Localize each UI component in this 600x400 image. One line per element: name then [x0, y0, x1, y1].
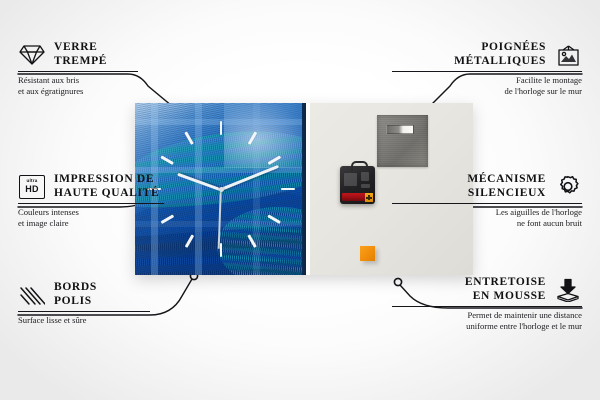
gear-icon — [554, 174, 582, 200]
hands-center-cap — [219, 187, 224, 192]
feature-title: VERRE TREMPÉ — [54, 41, 107, 68]
feature-impression-haute-qualite[interactable]: ultra HD IMPRESSION DE HAUTE QUALITÉ Cou… — [18, 173, 208, 228]
wall-hanger-icon — [554, 42, 582, 68]
feature-title: POIGNÉES MÉTALLIQUES — [454, 41, 546, 68]
foam-spacer — [360, 246, 375, 261]
feature-divider — [392, 71, 582, 72]
feature-title: BORDS POLIS — [54, 281, 97, 308]
ultra-hd-icon-main-label: HD — [25, 185, 38, 194]
mechanism-detail-3 — [361, 184, 370, 188]
feature-description: Couleurs intenses et image claire — [18, 207, 208, 228]
diamond-icon — [18, 42, 46, 68]
polished-edges-icon — [18, 282, 46, 308]
feature-poignees-metalliques[interactable]: POIGNÉES MÉTALLIQUES Facilite le montage… — [392, 41, 582, 96]
feature-verre-trempe[interactable]: VERRE TREMPÉ Résistant aux bris et aux é… — [18, 41, 208, 96]
feature-bords-polis[interactable]: BORDS POLIS Surface lisse et sûre — [18, 281, 208, 326]
artwork-crossline-v3 — [253, 103, 260, 275]
feature-description: Facilite le montage de l'horloge sur le … — [392, 75, 582, 96]
mechanism-detail-1 — [344, 173, 357, 186]
feature-title: ENTRETOISE EN MOUSSE — [465, 276, 546, 303]
feature-divider — [18, 311, 150, 312]
clock-mechanism — [340, 166, 375, 204]
mechanism-hook — [351, 161, 368, 171]
feature-divider — [18, 71, 138, 72]
clock-battery — [342, 193, 372, 201]
hanger-slot — [386, 125, 414, 134]
battery-plus-terminal — [365, 193, 373, 202]
feature-divider — [392, 203, 582, 204]
feature-title: MÉCANISME SILENCIEUX — [467, 173, 546, 200]
feature-description: Les aiguilles de l'horloge ne font aucun… — [392, 207, 582, 228]
feature-entretoise-en-mousse[interactable]: ENTRETOISE EN MOUSSE Permet de maintenir… — [392, 276, 582, 331]
feature-title: IMPRESSION DE HAUTE QUALITÉ — [54, 173, 159, 200]
artwork-glow — [224, 103, 306, 168]
hour-tick-12 — [220, 121, 223, 135]
mechanism-detail-2 — [361, 172, 369, 181]
feature-mecanisme-silencieux[interactable]: MÉCANISME SILENCIEUX Les aiguilles de l'… — [392, 173, 582, 228]
feature-description: Résistant aux bris et aux égratignures — [18, 75, 208, 96]
metal-hanger-plate — [377, 115, 428, 167]
foam-spacer-icon — [554, 277, 582, 303]
feature-divider — [392, 306, 582, 307]
hour-tick-6 — [220, 243, 223, 257]
hour-tick-3 — [281, 188, 295, 191]
feature-description: Permet de maintenir une distance uniform… — [392, 310, 582, 331]
feature-description: Surface lisse et sûre — [18, 315, 208, 325]
panel-edge — [302, 103, 306, 275]
ultra-hd-icon: ultra HD — [18, 174, 46, 200]
feature-divider — [18, 203, 164, 204]
infographic-canvas: VERRE TREMPÉ Résistant aux bris et aux é… — [0, 0, 600, 400]
